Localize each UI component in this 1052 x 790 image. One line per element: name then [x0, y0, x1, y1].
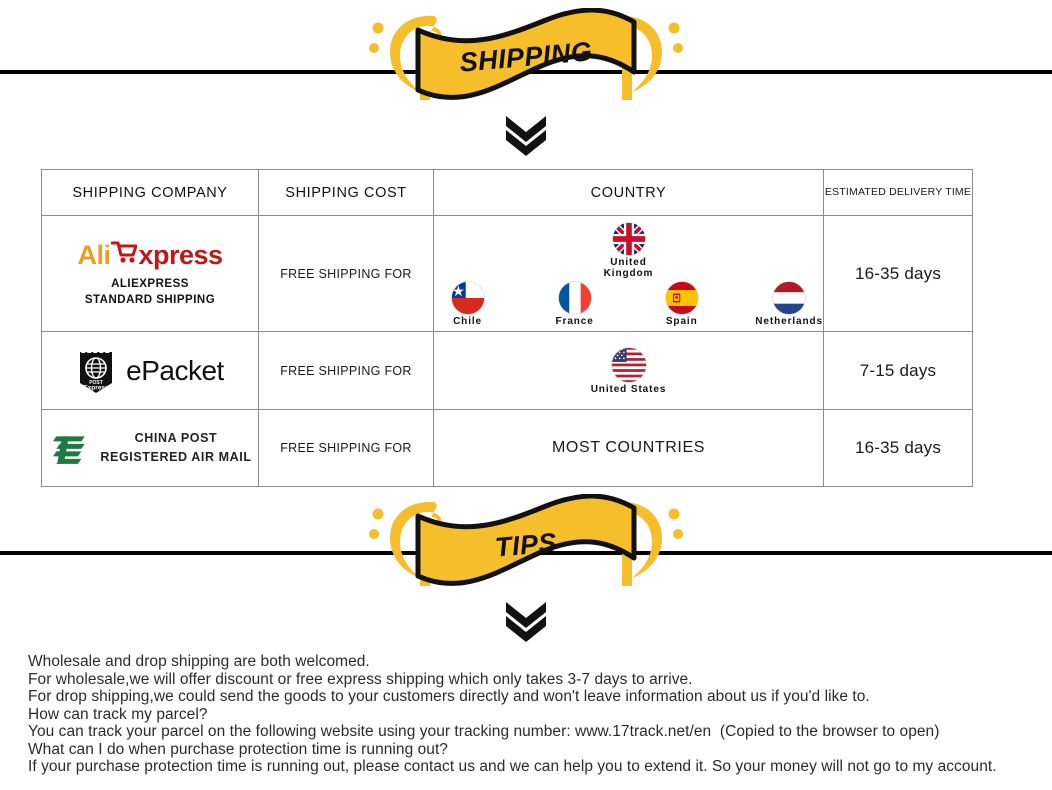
cell-country-epacket: United States [434, 332, 824, 410]
flag-item-netherlands: Netherlands [755, 281, 823, 327]
flag-label: United Kingdom [590, 257, 668, 279]
header-estimated-delivery-time: ESTIMATED DELIVERY TIME [824, 170, 973, 216]
cell-cost-aliexpress: FREE SHIPPING FOR [259, 216, 434, 332]
china-post-line-1: CHINA POST [100, 429, 251, 448]
shipping-ribbon: SHIPPING [356, 8, 696, 116]
cell-country-aliexpress: United Kingdom [434, 216, 824, 332]
flag-netherlands-icon [772, 281, 806, 315]
aliexpress-logo: Ali xpress [42, 240, 258, 272]
cell-eta-china-post: 16-35 days [824, 410, 973, 487]
flag-item-united-states: United States [590, 347, 668, 395]
tips-line: For drop shipping,we could send the good… [28, 688, 1048, 706]
tips-line: If your purchase protection time is runn… [28, 758, 1048, 776]
china-post-logo-icon [48, 428, 88, 468]
flag-spain-icon [665, 281, 699, 315]
shipping-table: SHIPPING COMPANY SHIPPING COST COUNTRY E… [41, 169, 972, 487]
cell-company-epacket: POST Express ePacket [42, 332, 259, 410]
flag-united-kingdom-icon [612, 222, 646, 256]
chevron-down-tips [0, 600, 1052, 642]
tips-ribbon: TIPS [356, 494, 696, 602]
table-row: CHINA POST REGISTERED AIR MAIL FREE SHIP… [42, 410, 973, 487]
ribbon-band [418, 496, 634, 583]
table-header-row: SHIPPING COMPANY SHIPPING COST COUNTRY E… [42, 170, 973, 216]
flag-item-spain: Spain [648, 281, 715, 327]
tips-text-block: Wholesale and drop shipping are both wel… [28, 653, 1048, 776]
flag-chile-icon [451, 281, 485, 315]
header-country: COUNTRY [434, 170, 824, 216]
tips-line: What can I do when purchase protection t… [28, 741, 1048, 759]
cell-company-aliexpress: Ali xpress ALIEXPRESS STANDA [42, 216, 259, 332]
china-post-line-2: REGISTERED AIR MAIL [100, 448, 251, 467]
flag-label: Chile [453, 316, 482, 327]
double-chevron-down-icon [502, 114, 550, 156]
flag-item-france: France [541, 281, 608, 327]
ribbon-band [418, 10, 634, 97]
flag-item-united-kingdom: United Kingdom [590, 222, 668, 279]
flag-label: Netherlands [755, 316, 823, 327]
epacket-label: ePacket [126, 355, 224, 387]
tips-line: You can track your parcel on the followi… [28, 723, 1048, 741]
cell-eta-aliexpress: 16-35 days [824, 216, 973, 332]
svg-text:Express: Express [84, 384, 110, 391]
cell-country-china-post: MOST COUNTRIES [434, 410, 824, 487]
shipping-banner-zone: SHIPPING [0, 0, 1052, 118]
cell-company-china-post: CHINA POST REGISTERED AIR MAIL [42, 410, 259, 487]
aliexpress-brand-xpress: xpress [138, 239, 222, 273]
flag-item-chile: Chile [434, 281, 501, 327]
aliexpress-sub-label-2: STANDARD SHIPPING [42, 293, 258, 307]
chevron-down-shipping [0, 114, 1052, 156]
flag-united-states-icon [611, 347, 647, 383]
flag-label: Spain [666, 316, 698, 327]
flag-label: France [556, 316, 594, 327]
shopping-cart-icon [111, 239, 137, 273]
cell-cost-epacket: FREE SHIPPING FOR [259, 332, 434, 410]
flag-label: United States [591, 384, 667, 395]
cell-cost-china-post: FREE SHIPPING FOR [259, 410, 434, 487]
double-chevron-down-icon [502, 600, 550, 642]
tips-line: For wholesale,we will offer discount or … [28, 671, 1048, 689]
tips-line: How can track my parcel? [28, 706, 1048, 724]
header-shipping-cost: SHIPPING COST [259, 170, 434, 216]
flag-france-icon [558, 281, 592, 315]
aliexpress-sub-label-1: ALIEXPRESS [42, 277, 258, 291]
cell-eta-epacket: 7-15 days [824, 332, 973, 410]
tips-line: Wholesale and drop shipping are both wel… [28, 653, 1048, 671]
tips-banner-zone: TIPS [0, 490, 1052, 608]
epacket-logo-icon: POST Express [76, 347, 116, 395]
table-row: POST Express ePacket FREE SHIPPING FOR [42, 332, 973, 410]
header-shipping-company: SHIPPING COMPANY [42, 170, 259, 216]
table-row: Ali xpress ALIEXPRESS STANDA [42, 216, 973, 332]
aliexpress-brand-ali: Ali [77, 239, 110, 273]
